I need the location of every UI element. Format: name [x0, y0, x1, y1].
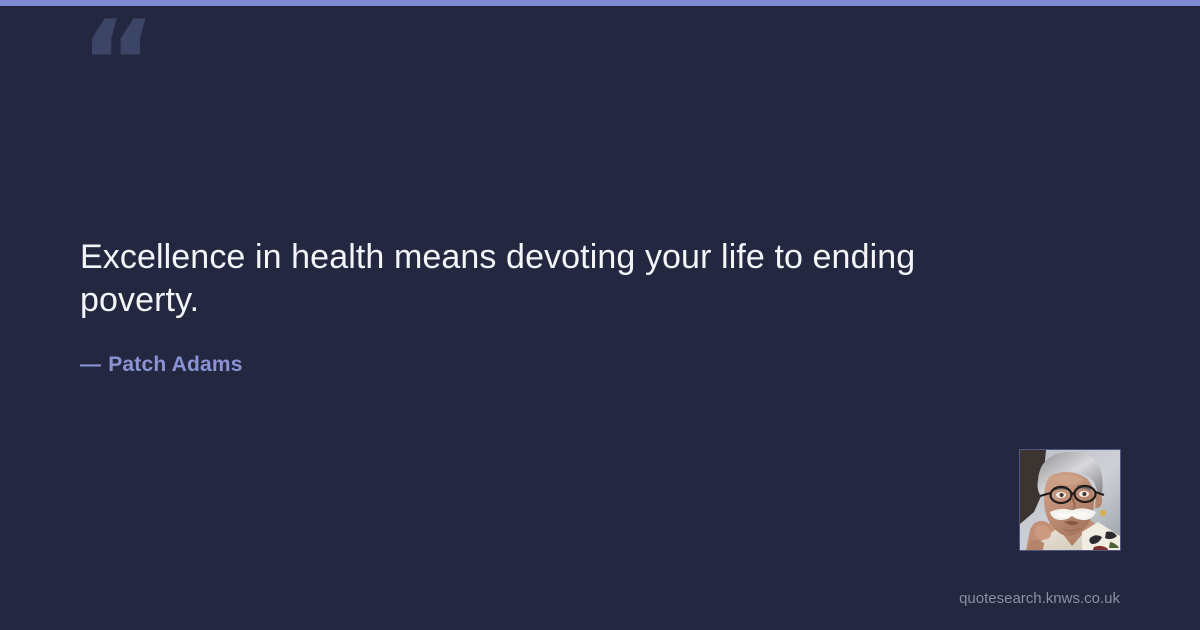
source-url-label: quotesearch.knws.co.uk	[959, 590, 1120, 608]
opening-quote-mark-icon: “	[80, 6, 200, 102]
quote-author-name: Patch Adams	[108, 353, 242, 376]
quote-card: “ Excellence in health means devoting yo…	[0, 0, 1200, 630]
quote-attribution: —Patch Adams	[80, 322, 1020, 377]
quote-text: Excellence in health means devoting your…	[80, 236, 990, 322]
author-portrait-image	[1020, 450, 1120, 550]
quote-body: Excellence in health means devoting your…	[80, 236, 1020, 377]
attribution-dash: —	[80, 353, 108, 377]
